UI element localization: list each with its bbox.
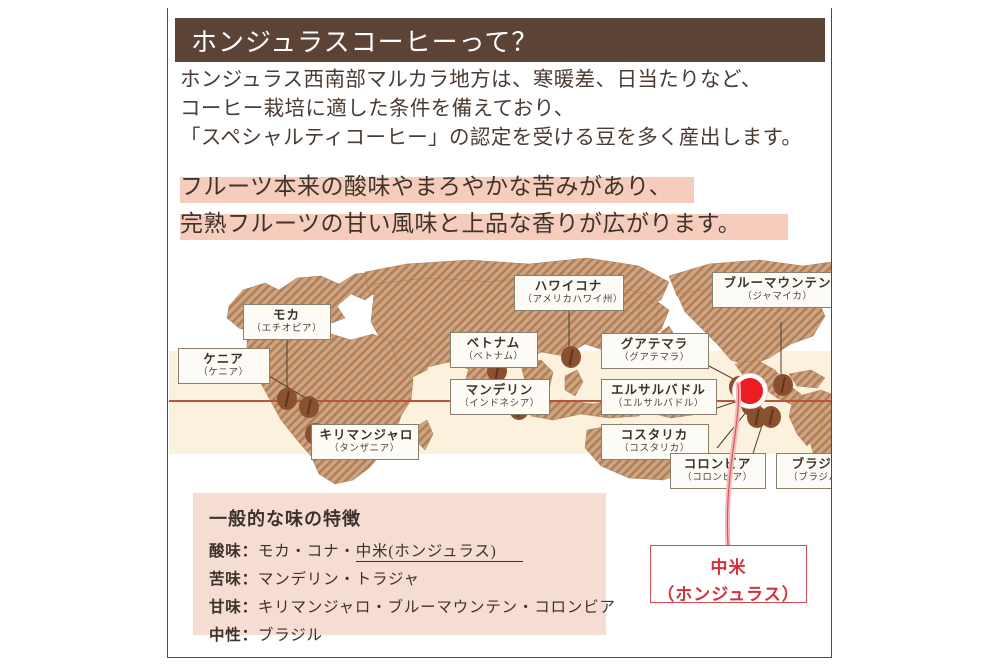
highlight-block: フルーツ本来の酸味やまろやかな苦みがあり、 完熟フルーツの甘い風味と上品な香りが… <box>180 168 820 242</box>
map-label-origin: （エチオピア） <box>252 323 322 335</box>
taste-legend: 一般的な味の特徴 酸味：モカ・コナ・中米(ホンジュラス) 苦味：マンデリン・トラ… <box>193 493 606 635</box>
map-label-name: キリマンジャロ <box>320 428 410 443</box>
legend-row-highlight: 中米(ホンジュラス) <box>356 543 523 562</box>
intro-line-2: コーヒー栽培に適した条件を備えており、 <box>180 95 820 124</box>
bean-marker-colombia <box>761 406 781 428</box>
map-label-vietnam[interactable]: ベトナム （ベトナム） <box>450 332 538 368</box>
legend-title: 一般的な味の特徴 <box>209 505 361 531</box>
bean-marker-mocha <box>277 388 297 410</box>
map-label-origin: （コロンビア） <box>679 472 757 484</box>
map-label-name: ブルーマウンテン <box>721 276 831 291</box>
map-label-origin: （インドネシア） <box>459 398 541 410</box>
intro-line-1: ホンジュラス西南部マルカラ地方は、寒暖差、日当たりなど、 <box>180 66 820 95</box>
map-label-mocha[interactable]: モカ （エチオピア） <box>243 304 331 340</box>
map-label-name: ケニア <box>187 352 261 367</box>
honduras-callout: 中米 （ホンジュラス） <box>650 545 807 603</box>
map-label-kenya[interactable]: ケニア （ケニア） <box>178 348 270 384</box>
map-label-name: コスタリカ <box>610 428 700 443</box>
legend-row-value: モカ・コナ・ <box>258 543 356 560</box>
map-label-name: コロンビア <box>679 457 757 472</box>
highlight-text-2: 完熟フルーツの甘い風味と上品な香りが広がります。 <box>180 211 741 236</box>
legend-row-label: 中性： <box>209 627 258 644</box>
legend-row-acidity: 酸味：モカ・コナ・中米(ホンジュラス) <box>209 539 523 561</box>
map-label-mandheling[interactable]: マンデリン （インドネシア） <box>450 379 550 415</box>
callout-line-1: 中米 <box>651 553 806 578</box>
world-map: モカ （エチオピア） ケニア （ケニア） キリマンジャロ （タンザニア） ベトナ… <box>169 248 831 491</box>
highlight-line-2: 完熟フルーツの甘い風味と上品な香りが広がります。 <box>180 205 820 242</box>
legend-row-neutral: 中性：ブラジル <box>209 623 323 645</box>
page-title-bar: ホンジュラスコーヒーって？ <box>175 18 825 62</box>
legend-row-value: キリマンジャロ・ブルーマウンテン・コロンビア <box>258 599 616 616</box>
legend-row-label: 甘味： <box>209 599 258 616</box>
bean-marker-kenya <box>299 396 319 418</box>
map-label-name: マンデリン <box>459 383 541 398</box>
map-label-name: ブラジル <box>785 457 831 472</box>
callout-line-2: （ホンジュラス） <box>651 580 806 605</box>
map-label-origin: （ベトナム） <box>459 351 529 363</box>
map-label-origin: （ブラジル） <box>785 472 831 484</box>
map-label-kilimanjaro[interactable]: キリマンジャロ （タンザニア） <box>311 424 419 460</box>
map-label-origin: （タンザニア） <box>320 443 410 455</box>
bean-marker-honduras-highlight <box>733 374 767 408</box>
highlight-text-1: フルーツ本来の酸味やまろやかな苦みがあり、 <box>180 174 672 199</box>
map-label-el-salvador[interactable]: エルサルバドル （エルサルバドル） <box>601 379 717 415</box>
map-label-name: エルサルバドル <box>610 383 708 398</box>
map-label-colombia[interactable]: コロンビア （コロンビア） <box>670 453 766 489</box>
map-label-origin: （ジャマイカ） <box>721 291 831 303</box>
map-label-guatemala[interactable]: グアテマラ （グアテマラ） <box>601 333 709 369</box>
map-label-brazil[interactable]: ブラジル （ブラジル） <box>776 453 831 489</box>
map-label-name: モカ <box>252 308 322 323</box>
legend-row-bitterness: 苦味：マンデリン・トラジャ <box>209 567 420 589</box>
map-label-blue-mountain[interactable]: ブルーマウンテン （ジャマイカ） <box>712 272 831 308</box>
legend-row-value: マンデリン・トラジャ <box>258 571 420 588</box>
map-label-origin: （グアテマラ） <box>610 352 700 364</box>
page-title: ホンジュラスコーヒーって？ <box>175 22 538 59</box>
legend-row-label: 酸味： <box>209 543 258 560</box>
map-label-origin: （エルサルバドル） <box>610 398 708 410</box>
legend-row-value: ブラジル <box>258 627 323 644</box>
map-label-hawaii-kona[interactable]: ハワイコナ （アメリカハワイ州） <box>514 275 624 311</box>
map-label-origin: （ケニア） <box>187 367 261 379</box>
highlight-line-1: フルーツ本来の酸味やまろやかな苦みがあり、 <box>180 168 820 205</box>
bean-marker-blue-mountain <box>773 374 793 396</box>
map-label-name: ハワイコナ <box>523 279 615 294</box>
map-label-name: グアテマラ <box>610 337 700 352</box>
map-label-name: ベトナム <box>459 336 529 351</box>
map-label-origin: （アメリカハワイ州） <box>523 294 615 306</box>
intro-line-3: 「スペシャルティコーヒー」の認定を受ける豆を多く産出します。 <box>180 124 820 153</box>
legend-row-label: 苦味： <box>209 571 258 588</box>
legend-row-sweetness: 甘味：キリマンジャロ・ブルーマウンテン・コロンビア <box>209 595 616 617</box>
bean-marker-hawaii-kona <box>561 346 581 368</box>
infographic-page: ホンジュラスコーヒーって？ ホンジュラス西南部マルカラ地方は、寒暖差、日当たりな… <box>0 0 1000 666</box>
intro-paragraph: ホンジュラス西南部マルカラ地方は、寒暖差、日当たりなど、 コーヒー栽培に適した条… <box>180 66 820 153</box>
